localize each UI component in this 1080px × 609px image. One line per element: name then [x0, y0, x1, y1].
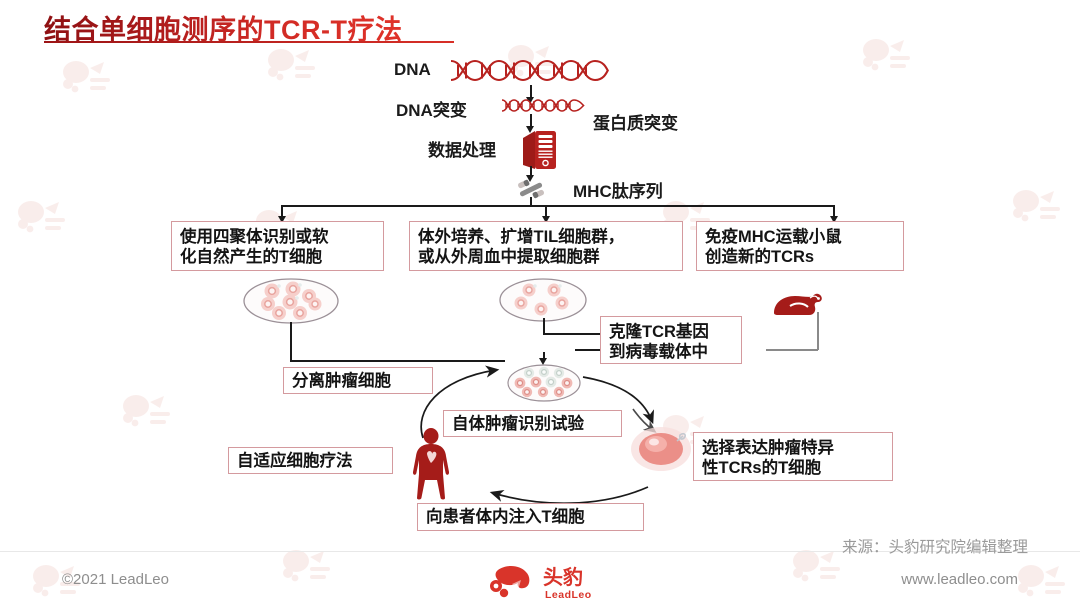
- branch-box-mouse[interactable]: 免疫MHC运载小鼠 创造新的TCRs: [696, 221, 904, 271]
- connector-dish-mid-right: [543, 333, 606, 335]
- watermark: [265, 44, 319, 84]
- callout-isolate-tumor[interactable]: 分离肿瘤细胞: [283, 367, 433, 394]
- connector-mouse-to-clone-h: [766, 349, 818, 351]
- svg-text:头豹: 头豹: [543, 565, 583, 589]
- watermark: [860, 34, 914, 74]
- website-link[interactable]: www.leadleo.com: [901, 571, 1018, 588]
- callout-infuse[interactable]: 向患者体内注入T细胞: [417, 503, 644, 531]
- connector-branch-bus: [282, 205, 834, 207]
- protein-mutation-label: 蛋白质突变: [593, 109, 678, 134]
- branch-box-til[interactable]: 体外培养、扩增TIL细胞群， 或从外周血中提取细胞群: [409, 221, 683, 271]
- dna-helix-small-icon: [500, 97, 586, 114]
- connector-mouse-to-clone-v: [817, 312, 819, 350]
- copyright-note: ©2021 LeadLeo: [62, 571, 169, 588]
- connector-dish-left-down: [290, 322, 292, 361]
- branch-box-tetramer[interactable]: 使用四聚体识别或软 化自然产生的T细胞: [171, 221, 384, 271]
- cell-dish-mid-icon: [497, 276, 589, 324]
- slide-canvas: 结合单细胞测序的TCR-T疗法 DNA DNA突变: [0, 0, 1080, 608]
- human-body-icon: [409, 428, 453, 500]
- source-note: 来源：头豹研究院编辑整理: [842, 535, 1028, 557]
- leadleo-logo-icon: 头豹 LeadLeo: [488, 562, 598, 604]
- callout-adaptive-therapy[interactable]: 自适应细胞疗法: [228, 447, 393, 474]
- watermark: [15, 196, 69, 236]
- watermark: [60, 56, 114, 96]
- dna-helix-icon: [449, 57, 614, 84]
- watermark: [1010, 185, 1064, 225]
- watermark: [120, 390, 174, 430]
- callout-autologous-test[interactable]: 自体肿瘤识别试验: [443, 410, 622, 437]
- single-cell-icon: [630, 425, 692, 473]
- cell-dish-left-icon: [241, 276, 341, 326]
- title-underline: [44, 41, 454, 43]
- data-processing-label: 数据处理: [428, 136, 496, 161]
- watermark: [1015, 560, 1069, 600]
- mhc-peptide-label: MHC肽序列: [573, 177, 663, 202]
- callout-select-tcr[interactable]: 选择表达肿瘤特异 性TCRs的T细胞: [693, 432, 893, 481]
- dna-mutation-label: DNA突变: [396, 96, 467, 121]
- dna-label: DNA: [394, 60, 431, 80]
- svg-text:LeadLeo: LeadLeo: [545, 589, 592, 601]
- connector-dish-mid-down: [543, 318, 545, 334]
- server-tower-icon: [521, 129, 559, 171]
